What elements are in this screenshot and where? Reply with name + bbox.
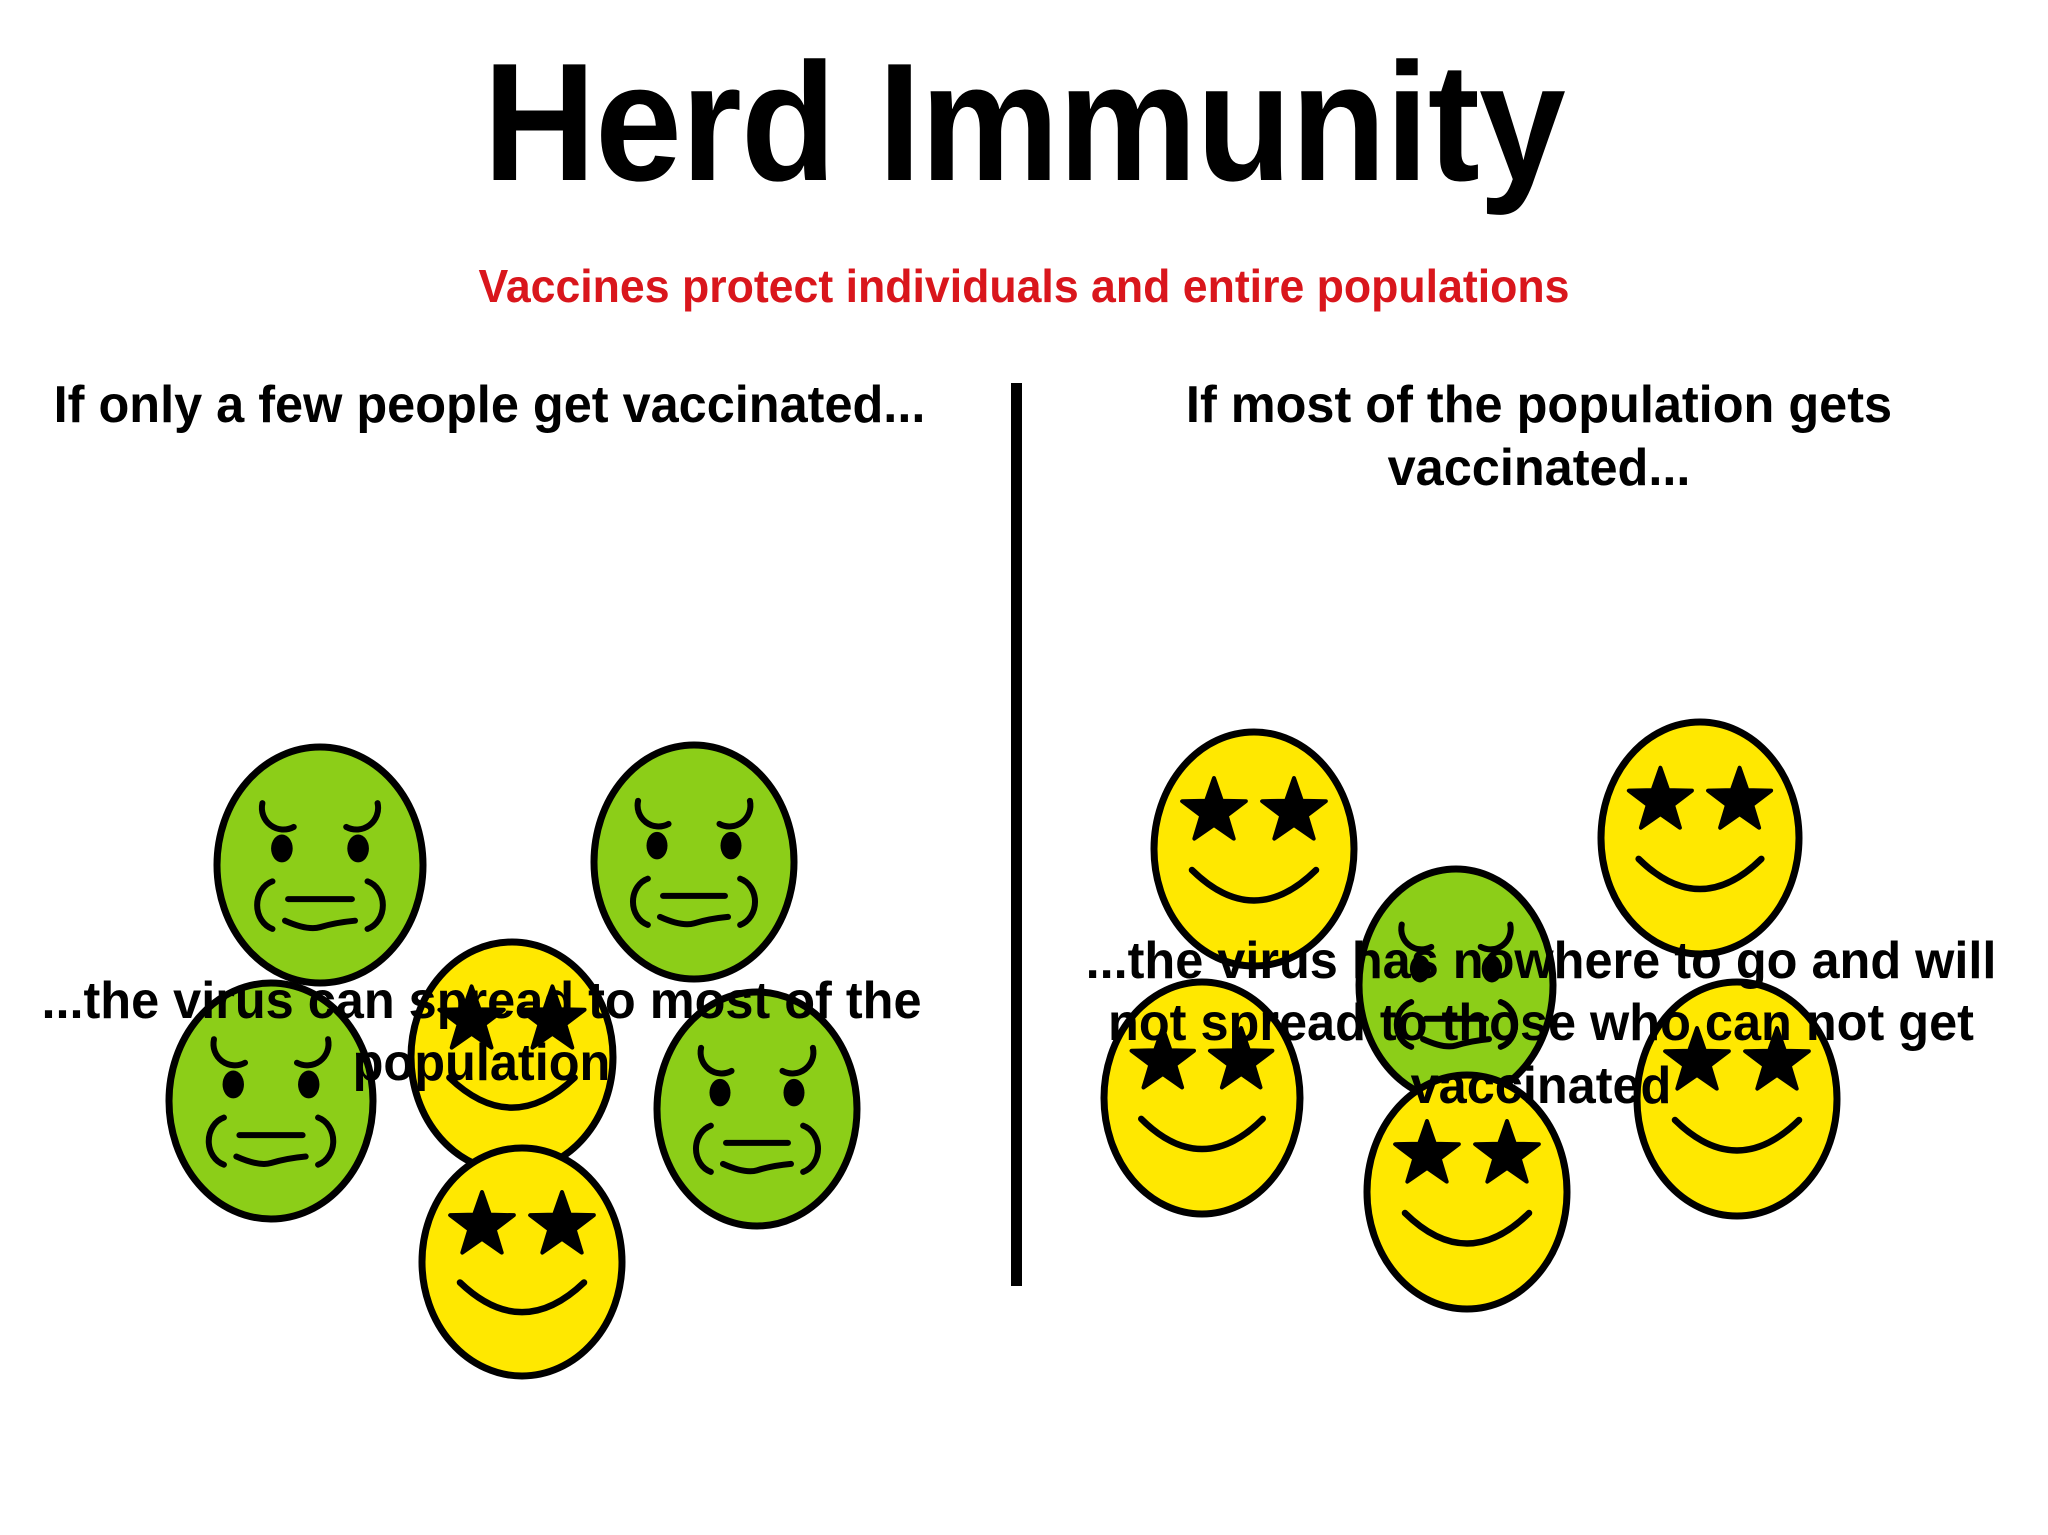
panel-low-vaccination: If only a few people get vaccinated... .…	[0, 340, 1011, 1535]
panel-high-vaccination: If most of the population gets vaccinate…	[1022, 340, 2048, 1535]
panel-right-caption: ...the virus has nowhere to go and will …	[1043, 930, 2038, 1117]
star-struck-face-icon	[1594, 715, 1806, 961]
panel-right-heading: If most of the population gets vaccinate…	[1041, 374, 2036, 501]
nauseated-face-icon	[210, 740, 430, 990]
panel-left-caption: ...the virus can spread to most of the p…	[0, 970, 972, 1095]
star-struck-face-icon	[415, 1141, 629, 1383]
infographic-header: Herd Immunity Vaccines protect individua…	[0, 0, 2048, 340]
panel-left-heading: If only a few people get vaccinated...	[0, 374, 980, 437]
vertical-divider	[1011, 383, 1022, 1286]
page-subtitle: Vaccines protect individuals and entire …	[31, 262, 2018, 310]
page-title: Herd Immunity	[72, 38, 1977, 206]
